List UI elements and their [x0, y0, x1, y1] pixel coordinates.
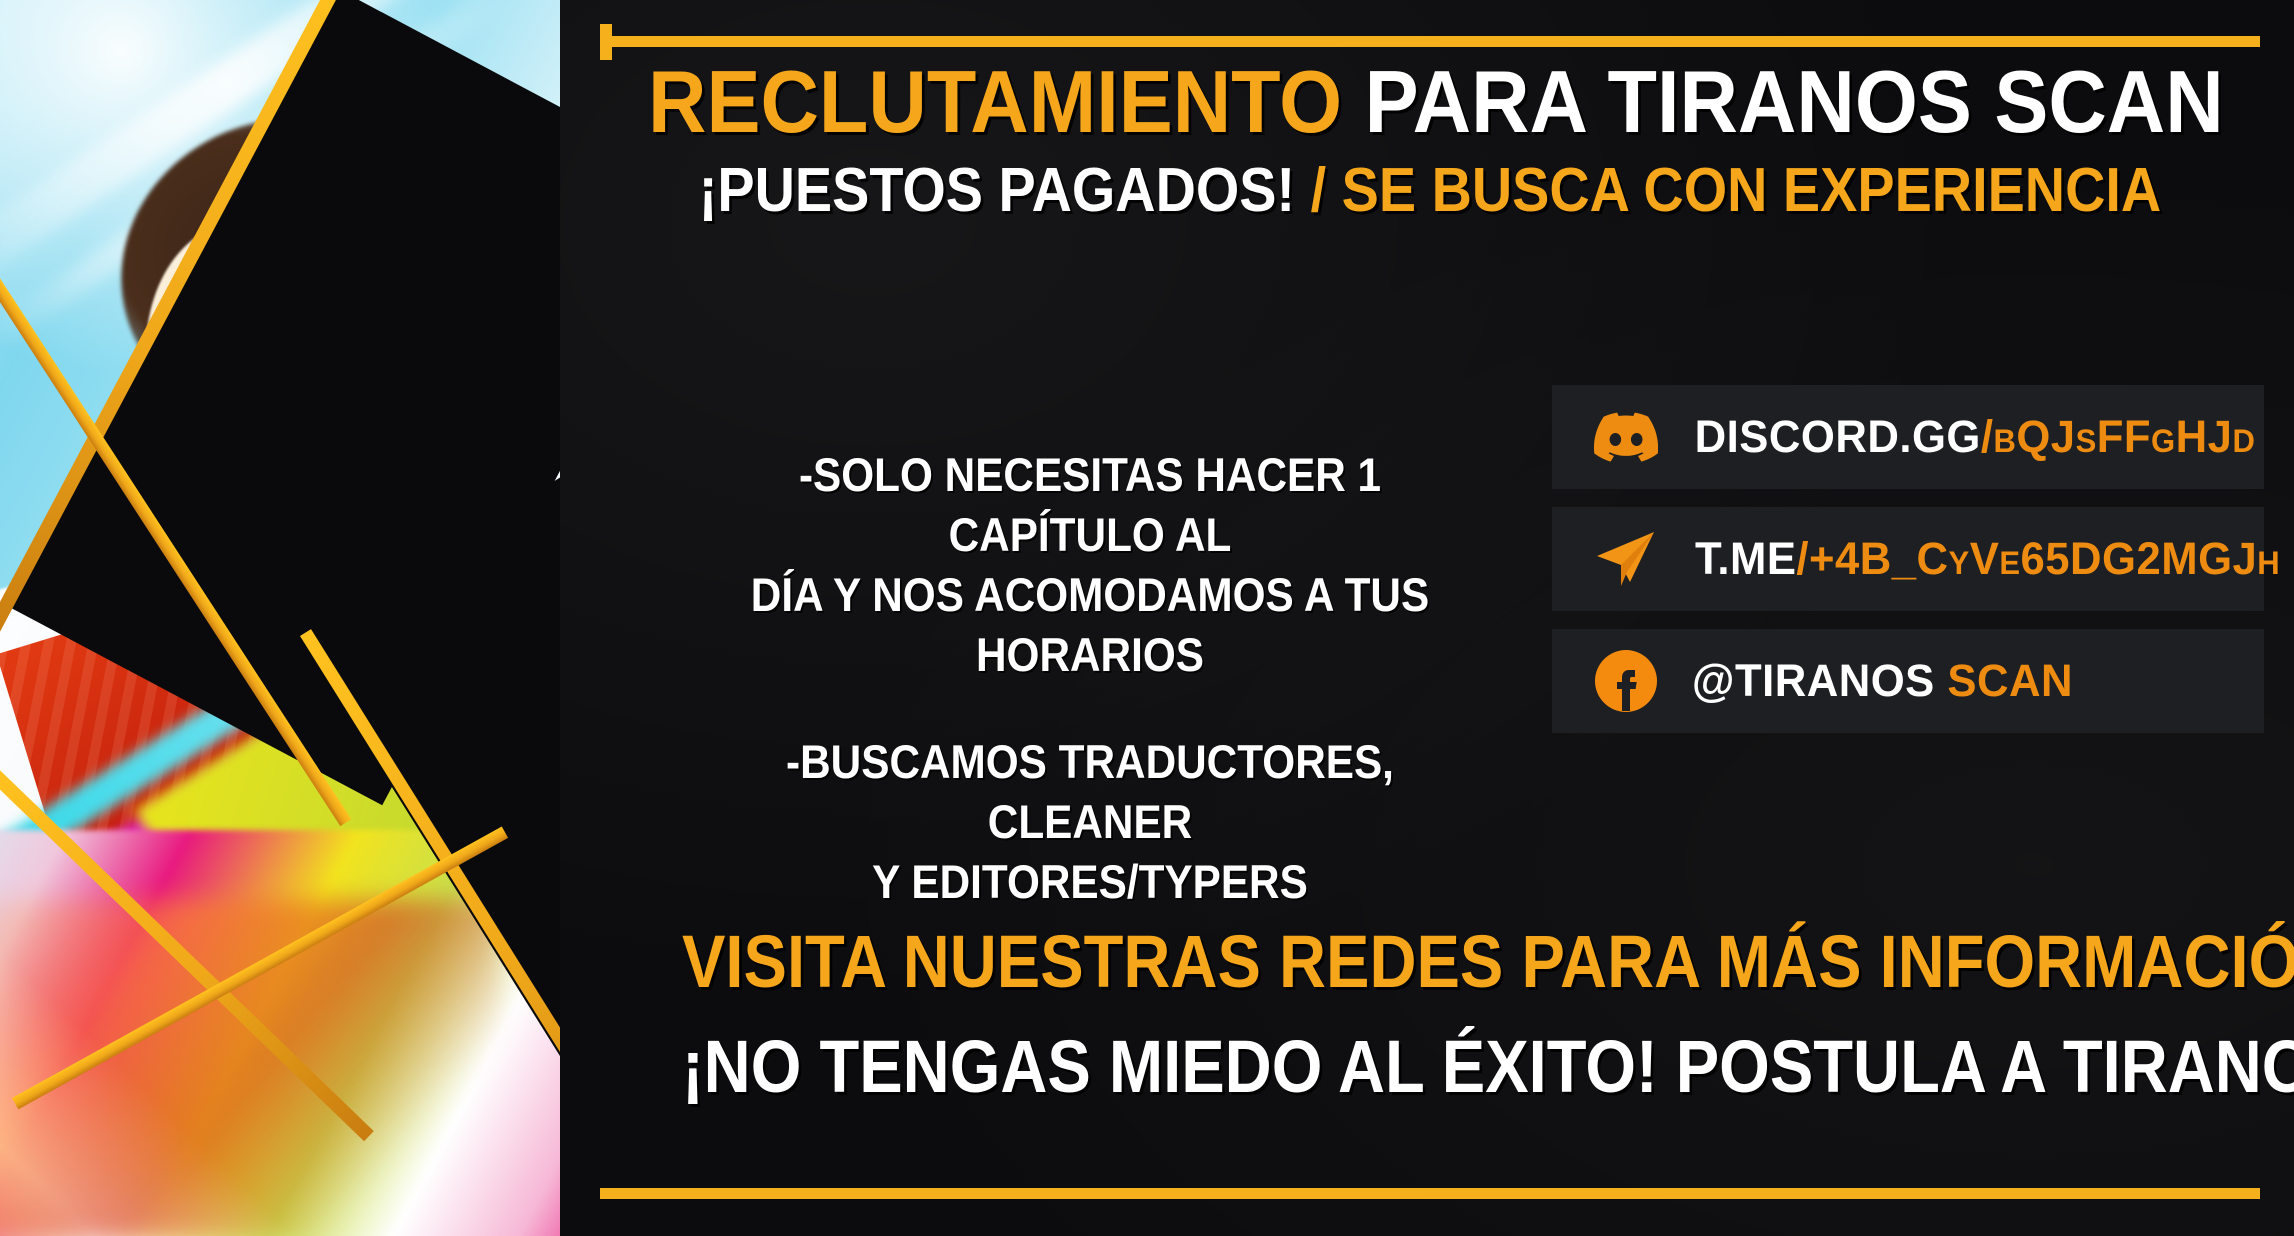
discord-domain: DISCORD.GG [1695, 411, 1981, 462]
requirement-item-roles: -BUSCAMOS TRADUCTORES, CLEANER Y EDITORE… [685, 732, 1495, 912]
discord-link-text: DISCORD.GG/bQJsFFgHJd [1695, 411, 2256, 463]
requirement-line: DÍA Y NOS ACOMODAMOS A TUS HORARIOS [685, 565, 1495, 685]
requirement-line: -SOLO NECESITAS HACER 1 CAPÍTULO AL [685, 445, 1495, 565]
top-gold-rule [610, 36, 2260, 47]
call-to-action-line-2: ¡NO TENGAS MIEDO AL ÉXITO! POSTULA A TIR… [682, 1030, 2178, 1104]
page-title: RECLUTAMIENTO PARA TIRANOS SCAN [648, 58, 2212, 146]
subtitle-paid-positions: ¡PUESTOS PAGADOS! [699, 156, 1295, 225]
telegram-icon [1592, 525, 1660, 593]
telegram-invite-code: /+4B_CyVe65DG2MGJh [1796, 533, 2280, 584]
facebook-handle: @TIRANOS [1692, 655, 1947, 706]
headline-gold-part: RECLUTAMIENTO [648, 52, 1342, 151]
facebook-link-text: @TIRANOS SCAN [1692, 655, 2073, 707]
bottom-gold-rule [600, 1188, 2260, 1199]
contact-links-group: DISCORD.GG/bQJsFFgHJd T.ME/+4B_CyVe65DG2… [1552, 385, 2264, 733]
contact-row-discord[interactable]: DISCORD.GG/bQJsFFgHJd [1552, 385, 2264, 489]
recruitment-banner: RECLUTAMIENTO PARA TIRANOS SCAN ¡PUESTOS… [0, 0, 2294, 1236]
discord-invite-code: /bQJsFFgHJd [1981, 411, 2256, 462]
contact-row-facebook[interactable]: @TIRANOS SCAN [1552, 629, 2264, 733]
page-subtitle: ¡PUESTOS PAGADOS! / SE BUSCA CON EXPERIE… [665, 160, 2195, 222]
telegram-domain: T.ME [1695, 533, 1796, 584]
subtitle-separator: / [1295, 156, 1342, 225]
requirement-item-schedule: -SOLO NECESITAS HACER 1 CAPÍTULO AL DÍA … [685, 445, 1495, 686]
requirement-line: -BUSCAMOS TRADUCTORES, CLEANER [685, 732, 1495, 852]
facebook-icon [1592, 647, 1660, 715]
requirement-line: Y EDITORES/TYPERS [685, 852, 1495, 912]
call-to-action-line-1: VISITA NUESTRAS REDES PARA MÁS INFORMACI… [682, 925, 2178, 999]
subtitle-experience: SE BUSCA CON EXPERIENCIA [1342, 156, 2162, 225]
contact-row-telegram[interactable]: T.ME/+4B_CyVe65DG2MGJh [1552, 507, 2264, 611]
requirements-list: -SOLO NECESITAS HACER 1 CAPÍTULO AL DÍA … [685, 445, 1495, 912]
facebook-handle-suffix: SCAN [1947, 655, 2073, 706]
discord-icon [1592, 403, 1660, 471]
headline-white-part: PARA TIRANOS SCAN [1342, 52, 2224, 151]
telegram-link-text: T.ME/+4B_CyVe65DG2MGJh [1695, 533, 2280, 585]
